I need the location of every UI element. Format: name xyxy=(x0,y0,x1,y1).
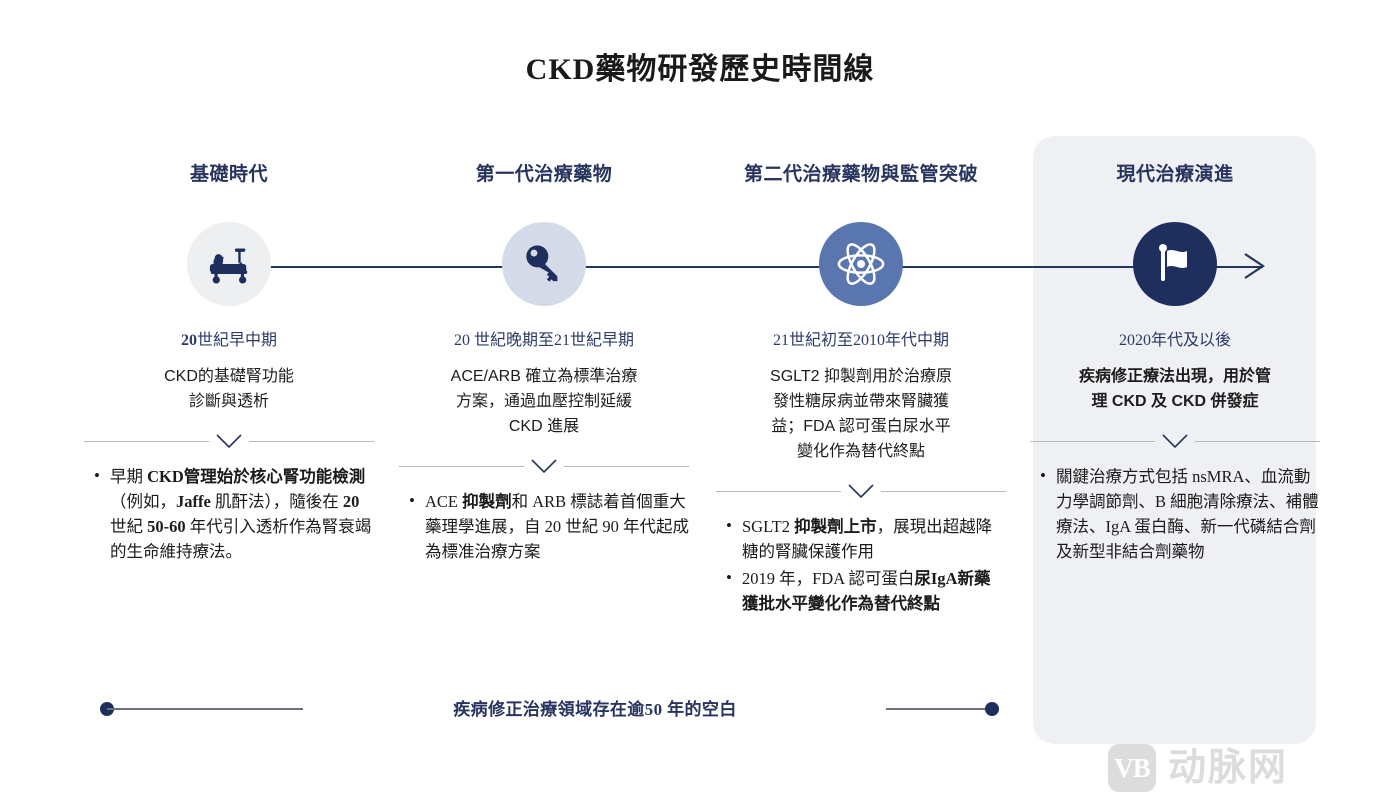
stage-4-bullets: 關鍵治療方式包括 nsMRA、血流動力學調節劑、B 細胞清除療法、補體療法、Ig… xyxy=(1030,464,1320,564)
stage-2-icon-circle xyxy=(502,222,586,306)
divider-rule-right xyxy=(1195,441,1320,442)
stage-4-era: 2020年代及以後 xyxy=(1030,326,1320,350)
divider-rule-right xyxy=(249,441,374,442)
stage-3-icon-circle xyxy=(819,222,903,306)
page-title: CKD藥物研發歷史時間線 xyxy=(0,44,1400,88)
stage-1-icon-circle xyxy=(187,222,271,306)
list-item: 2019 年，FDA 認可蛋白尿IgA新藥獲批水平變化作為替代終點 xyxy=(722,566,1006,616)
stage-3-era: 21世紀初至2010年代中期 xyxy=(716,326,1006,350)
timeline-stage-4[interactable]: 現代治療演進 2020年代及以後 疾病修正療法出現，用於管理 CKD 及 CKD… xyxy=(1030,160,1320,566)
stage-4-divider xyxy=(1030,430,1320,452)
stage-2-divider xyxy=(399,455,689,477)
stage-4-heading: 現代治療演進 xyxy=(1030,160,1320,190)
divider-rule-left xyxy=(1030,441,1155,442)
gap-annotation-label: 疾病修正治療領域存在逾50 年的空白 xyxy=(310,695,880,720)
stage-3-description: SGLT2 抑製劑用於治療原發性糖尿病並帶來腎臟獲益；FDA 認可蛋白尿水平變化… xyxy=(716,364,1006,464)
watermark-badge-icon: VB xyxy=(1108,744,1156,792)
stage-4-icon-circle xyxy=(1133,222,1217,306)
chevron-down-icon xyxy=(1155,430,1195,452)
stage-1-description: CKD的基礎腎功能診斷與透析 xyxy=(84,364,374,414)
key-icon xyxy=(523,243,565,285)
timeline-stage-1[interactable]: 基礎時代 xyxy=(84,160,374,566)
atom-icon xyxy=(836,239,886,289)
list-item: 關鍵治療方式包括 nsMRA、血流動力學調節劑、B 細胞清除療法、補體療法、Ig… xyxy=(1036,464,1320,564)
gap-line-left xyxy=(107,708,303,710)
hospital-bed-icon xyxy=(207,244,251,284)
stage-2-heading: 第一代治療藥物 xyxy=(399,160,689,190)
stage-3-heading: 第二代治療藥物與監管突破 xyxy=(716,160,1006,190)
stage-2-era: 20 世紀晚期至21世紀早期 xyxy=(399,326,689,350)
chevron-down-icon xyxy=(524,455,564,477)
gap-line-right xyxy=(886,708,991,710)
watermark-text: 动脉网 xyxy=(1168,749,1288,787)
stage-4-description: 疾病修正療法出現，用於管理 CKD 及 CKD 併發症 xyxy=(1030,364,1320,414)
divider-rule-left xyxy=(399,466,524,467)
stage-1-bullets: 早期 CKD管理始於核心腎功能檢測（例如，Jaffe 肌酐法），隨後在 20 世… xyxy=(84,464,374,564)
stage-2-description: ACE/ARB 確立為標準治療方案，通過血壓控制延緩CKD 進展 xyxy=(399,364,689,439)
divider-rule-left xyxy=(716,491,841,492)
chevron-down-icon xyxy=(841,480,881,502)
timeline-stage-2[interactable]: 第一代治療藥物 20 世紀晚期至21世紀早期 ACE/ARB 確立為標準治療方案… xyxy=(399,160,689,566)
divider-rule-right xyxy=(881,491,1006,492)
stage-1-heading: 基礎時代 xyxy=(84,160,374,190)
stage-2-bullets: ACE 抑製劑和 ARB 標誌着首個重大藥理學進展，自 20 世紀 90 年代起… xyxy=(399,489,689,564)
stage-1-icon-wrap xyxy=(84,208,374,320)
flag-icon xyxy=(1154,241,1196,287)
stage-1-era-prefix: 20 xyxy=(181,332,197,349)
divider-rule-left xyxy=(84,441,209,442)
list-item: SGLT2 抑製劑上市，展現出超越降糖的腎臟保護作用 xyxy=(722,514,1006,564)
stage-3-divider xyxy=(716,480,1006,502)
stage-1-divider xyxy=(84,430,374,452)
stage-4-icon-wrap xyxy=(1030,208,1320,320)
watermark: VB 动脉网 xyxy=(1108,744,1288,792)
list-item: 早期 CKD管理始於核心腎功能檢測（例如，Jaffe 肌酐法），隨後在 20 世… xyxy=(90,464,374,564)
stage-3-icon-wrap xyxy=(716,208,1006,320)
chevron-down-icon xyxy=(209,430,249,452)
stage-3-bullets: SGLT2 抑製劑上市，展現出超越降糖的腎臟保護作用 2019 年，FDA 認可… xyxy=(716,514,1006,616)
stage-1-era-rest: 世紀早中期 xyxy=(197,332,277,349)
stage-1-era: 20世紀早中期 xyxy=(84,326,374,350)
list-item: ACE 抑製劑和 ARB 標誌着首個重大藥理學進展，自 20 世紀 90 年代起… xyxy=(405,489,689,564)
stage-2-icon-wrap xyxy=(399,208,689,320)
timeline-infographic: CKD藥物研發歷史時間線 基礎時代 xyxy=(0,0,1400,810)
timeline-stage-3[interactable]: 第二代治療藥物與監管突破 21世紀初至2010年代中期 SGLT2 抑製劑用於治… xyxy=(716,160,1006,618)
divider-rule-right xyxy=(564,466,689,467)
gap-marker-end xyxy=(985,702,999,716)
